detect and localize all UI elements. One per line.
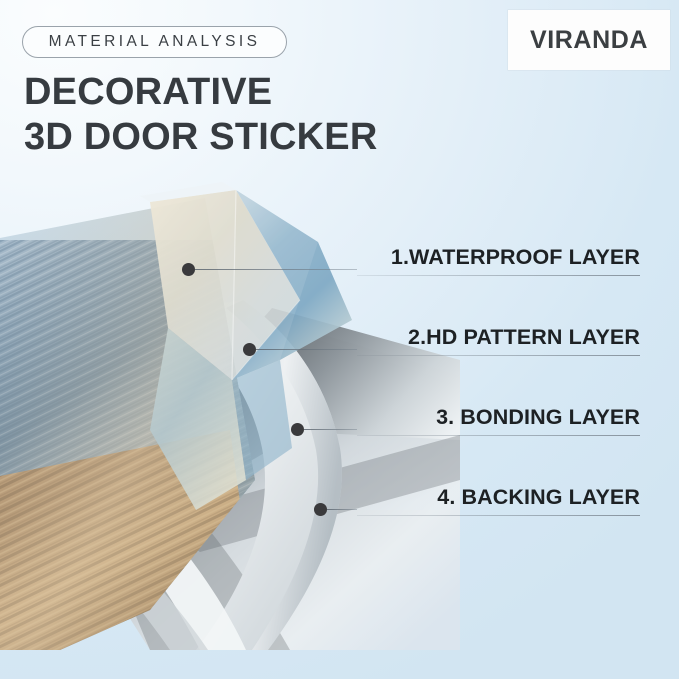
callout-dot-2: [243, 343, 256, 356]
callout-dot-4: [314, 503, 327, 516]
callout-1: 1.WATERPROOF LAYER: [357, 238, 640, 276]
callout-rule-2: [357, 355, 640, 356]
callout-leader-2: [256, 349, 357, 350]
page-title: DECORATIVE 3D DOOR STICKER: [24, 70, 484, 160]
callout-label-1: 1.WATERPROOF LAYER: [391, 245, 640, 270]
callout-dot-1: [182, 263, 195, 276]
callout-rule-3: [357, 435, 640, 436]
callout-leader-3: [304, 429, 357, 430]
callout-rule-1: [357, 275, 640, 276]
callout-dot-3: [291, 423, 304, 436]
material-analysis-badge: MATERIAL ANALYSIS: [22, 26, 287, 58]
callout-label-3: 3. BONDING LAYER: [436, 405, 640, 430]
infographic-canvas: MATERIAL ANALYSIS DECORATIVE 3D DOOR STI…: [0, 0, 679, 679]
callout-4: 4. BACKING LAYER: [357, 478, 640, 516]
brand-name: VIRANDA: [530, 26, 648, 55]
callout-label-4: 4. BACKING LAYER: [437, 485, 640, 510]
brand-logo: VIRANDA: [508, 10, 670, 70]
callout-rule-4: [357, 515, 640, 516]
callout-3: 3. BONDING LAYER: [357, 398, 640, 436]
badge-text: MATERIAL ANALYSIS: [49, 33, 261, 51]
callout-label-2: 2.HD PATTERN LAYER: [408, 325, 640, 350]
callout-leader-1: [195, 269, 357, 270]
title-line-2: 3D DOOR STICKER: [24, 115, 484, 160]
title-line-1: DECORATIVE: [24, 70, 484, 115]
callout-leader-4: [327, 509, 357, 510]
callout-2: 2.HD PATTERN LAYER: [357, 318, 640, 356]
